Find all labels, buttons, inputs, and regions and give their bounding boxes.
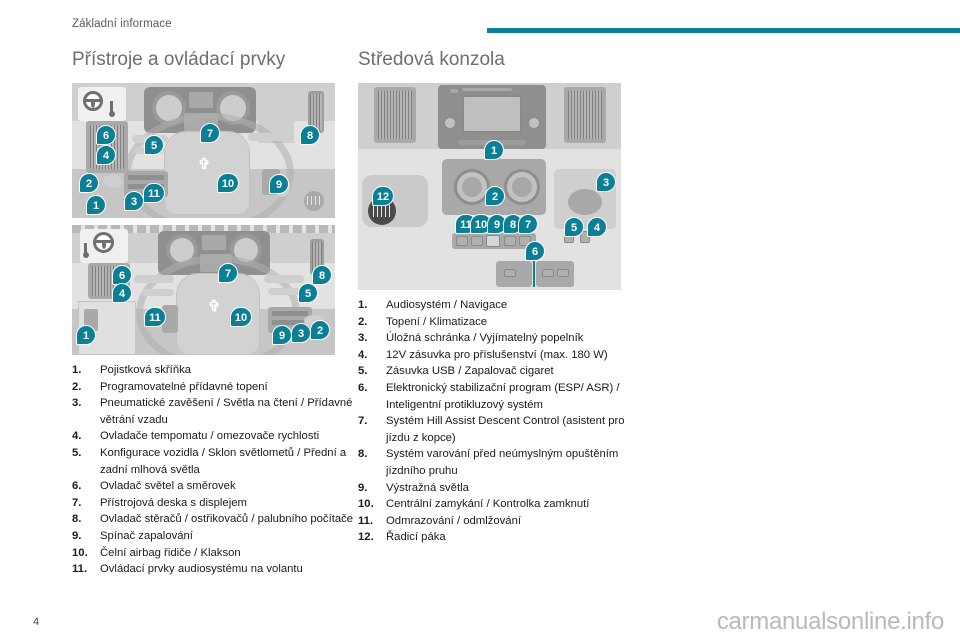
list-item-number: 10.	[358, 496, 380, 513]
right-column: Středová konzola	[358, 48, 648, 546]
figure1-callout-5: 5	[144, 135, 164, 155]
console-callout-12: 12	[372, 186, 394, 206]
list-item-number: 2.	[358, 314, 380, 331]
list-item-text: Konfigurace vozidla / Sklon světlometů /…	[100, 445, 362, 478]
list-item: 6.Elektronický stabilizační program (ESP…	[358, 380, 648, 413]
figure2-callout-4: 4	[112, 283, 132, 303]
list-item: 11.Ovládací prvky audiosystému na volant…	[72, 561, 362, 578]
list-item: 8.Ovladač stěračů / ostřikovačů / palubn…	[72, 511, 362, 528]
list-item-text: Řadicí páka	[386, 529, 648, 546]
list-item-text: Elektronický stabilizační program (ESP/ …	[386, 380, 648, 413]
list-item: 5.Konfigurace vozidla / Sklon světlometů…	[72, 445, 362, 478]
list-item-text: Ovladače tempomatu / omezovače rychlosti	[100, 428, 362, 445]
list-item-number: 7.	[72, 495, 94, 512]
figure1-callout-8: 8	[300, 125, 320, 145]
list-item: 4.Ovladače tempomatu / omezovače rychlos…	[72, 428, 362, 445]
list-item-number: 5.	[72, 445, 94, 462]
header-rule	[487, 28, 960, 33]
figure-dashboard-lhd: ✞ 6 4 5 2 1 3	[72, 83, 335, 218]
list-item-text: Zásuvka USB / Zapalovač cigaret	[386, 363, 648, 380]
list-item-text: Pojistková skříňka	[100, 362, 362, 379]
list-item-number: 12.	[358, 529, 380, 546]
list-item-text: Systém varování před neúmyslným opuštění…	[386, 446, 648, 479]
figure2-callout-11: 11	[144, 307, 166, 327]
figure1-callout-3: 3	[124, 191, 144, 211]
list-item-text: Topení / Klimatizace	[386, 314, 648, 331]
list-item-text: Čelní airbag řidiče / Klakson	[100, 545, 362, 562]
list-item: 1.Pojistková skříňka	[72, 362, 362, 379]
figure1-callout-10: 10	[217, 173, 239, 193]
figure1-callout-9: 9	[269, 174, 289, 194]
list-item: 6.Ovladač světel a směrovek	[72, 478, 362, 495]
page-header: Základní informace	[0, 0, 960, 40]
list-item: 8.Systém varování před neúmyslným opuště…	[358, 446, 648, 479]
list-item-number: 6.	[358, 380, 380, 397]
console-callout-7: 7	[518, 214, 538, 234]
figure2-callout-2: 2	[310, 320, 330, 340]
list-item-text: Výstražná světla	[386, 480, 648, 497]
figure1-callout-7: 7	[200, 123, 220, 143]
list-item-text: Ovladač světel a směrovek	[100, 478, 362, 495]
list-item-text: Systém Hill Assist Descent Control (asis…	[386, 413, 648, 446]
figure2-callout-9: 9	[272, 325, 292, 345]
figure2-callout-3: 3	[291, 323, 311, 343]
list-item-number: 2.	[72, 379, 94, 396]
list-item-number: 1.	[358, 297, 380, 314]
list-item-number: 11.	[72, 561, 94, 578]
site-watermark: carmanualsonline.info	[717, 608, 944, 636]
list-item-text: Audiosystém / Navigace	[386, 297, 648, 314]
left-column-title: Přístroje a ovládací prvky	[72, 48, 362, 72]
left-column: Přístroje a ovládací prvky ✞	[72, 48, 362, 578]
list-item: 9.Spínač zapalování	[72, 528, 362, 545]
figure2-callout-6: 6	[112, 265, 132, 285]
list-item: 12.Řadicí páka	[358, 529, 648, 546]
list-item: 10.Čelní airbag řidiče / Klakson	[72, 545, 362, 562]
list-item: 4.12V zásuvka pro příslušenství (max. 18…	[358, 347, 648, 364]
right-column-title: Středová konzola	[358, 48, 648, 72]
list-item-number: 9.	[72, 528, 94, 545]
list-item-number: 8.	[358, 446, 380, 463]
list-item: 10.Centrální zamykání / Kontrolka zamknu…	[358, 496, 648, 513]
manual-page: Základní informace Přístroje a ovládací …	[0, 0, 960, 640]
figure2-callout-8: 8	[312, 265, 332, 285]
figure2-callout-10: 10	[230, 307, 252, 327]
list-item: 7.Přístrojová deska s displejem	[72, 495, 362, 512]
list-item-number: 4.	[72, 428, 94, 445]
list-item: 9.Výstražná světla	[358, 480, 648, 497]
console-callout-1: 1	[484, 140, 504, 160]
section-label: Základní informace	[72, 18, 172, 30]
list-item-text: 12V zásuvka pro příslušenství (max. 180 …	[386, 347, 648, 364]
list-item: 2.Topení / Klimatizace	[358, 314, 648, 331]
list-item-number: 3.	[358, 330, 380, 347]
list-item-number: 6.	[72, 478, 94, 495]
list-item-number: 7.	[358, 413, 380, 430]
list-item: 11.Odmrazování / odmlžování	[358, 513, 648, 530]
list-item-text: Úložná schránka / Vyjímatelný popelník	[386, 330, 648, 347]
list-item-number: 4.	[358, 347, 380, 364]
list-item-number: 3.	[72, 395, 94, 412]
figure-centre-console: 1 2 3 12 11 10 9 8 7 5 4 6	[358, 83, 621, 290]
list-item-text: Ovládací prvky audiosystému na volantu	[100, 561, 362, 578]
figure2-callout-5: 5	[298, 283, 318, 303]
figure1-callout-6: 6	[96, 125, 116, 145]
list-item-text: Spínač zapalování	[100, 528, 362, 545]
figure2-callout-7: 7	[218, 263, 238, 283]
figure1-callout-1: 1	[86, 195, 106, 215]
page-number: 4	[33, 616, 39, 628]
list-item-text: Přístrojová deska s displejem	[100, 495, 362, 512]
figure-dashboard-rhd: ✞ 6 4 7 8 5 11 10	[72, 225, 335, 355]
list-item-text: Odmrazování / odmlžování	[386, 513, 648, 530]
left-column-item-list: 1.Pojistková skříňka2.Programovatelné př…	[72, 362, 362, 578]
figure1-callout-4: 4	[96, 145, 116, 165]
list-item: 7.Systém Hill Assist Descent Control (as…	[358, 413, 648, 446]
list-item-text: Ovladač stěračů / ostřikovačů / palubníh…	[100, 511, 362, 528]
list-item-text: Centrální zamykání / Kontrolka zamknutí	[386, 496, 648, 513]
list-item-number: 8.	[72, 511, 94, 528]
console-callout-4: 4	[587, 217, 607, 237]
list-item: 1.Audiosystém / Navigace	[358, 297, 648, 314]
figure2-callout-1: 1	[76, 325, 96, 345]
list-item-number: 1.	[72, 362, 94, 379]
list-item: 3.Pneumatické zavěšení / Světla na čtení…	[72, 395, 362, 428]
figure1-callout-2: 2	[79, 173, 99, 193]
console-callout-2: 2	[485, 186, 505, 206]
list-item-number: 9.	[358, 480, 380, 497]
list-item: 2.Programovatelné přídavné topení	[72, 379, 362, 396]
console-callout-5: 5	[564, 217, 584, 237]
console-callout-6: 6	[525, 241, 545, 261]
right-column-item-list: 1.Audiosystém / Navigace2.Topení / Klima…	[358, 297, 648, 546]
list-item-number: 5.	[358, 363, 380, 380]
list-item-text: Pneumatické zavěšení / Světla na čtení /…	[100, 395, 362, 428]
list-item: 3.Úložná schránka / Vyjímatelný popelník	[358, 330, 648, 347]
list-item-number: 11.	[358, 513, 380, 530]
figure1-callout-11: 11	[143, 183, 165, 203]
list-item-number: 10.	[72, 545, 94, 562]
list-item-text: Programovatelné přídavné topení	[100, 379, 362, 396]
list-item: 5.Zásuvka USB / Zapalovač cigaret	[358, 363, 648, 380]
console-callout-3: 3	[596, 172, 616, 192]
